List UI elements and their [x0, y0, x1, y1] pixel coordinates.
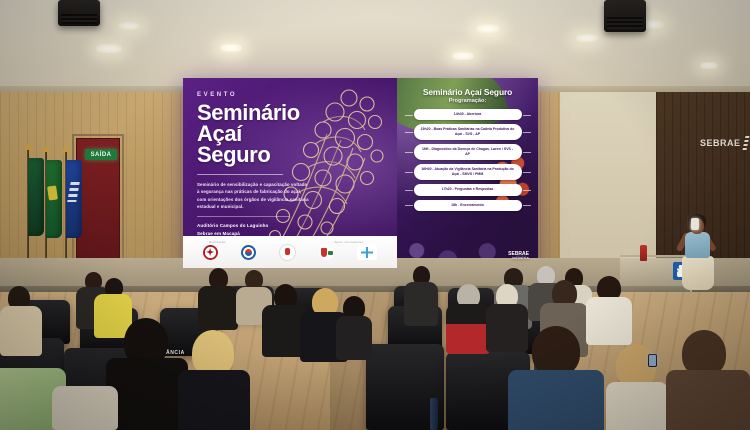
audience-member [508, 326, 604, 430]
divider [197, 174, 283, 175]
ceiling-speaker [58, 0, 100, 26]
partner-logo-1-icon [203, 245, 218, 260]
projection-screen: EVENTO Seminário Açaí Seguro Seminário d… [183, 78, 538, 268]
ceiling-light [118, 22, 140, 30]
flag-cloth [46, 160, 62, 238]
skirt [682, 256, 714, 290]
torso [508, 370, 604, 430]
schedule-item: 14h30 - Abertura [414, 109, 522, 120]
torso [178, 370, 250, 430]
schedule-subtitle: Programação: [404, 98, 531, 104]
person-taking-photo [678, 212, 720, 290]
sebrae-wall-logo: SEBRAE [700, 128, 748, 158]
ceiling-light [576, 34, 598, 42]
sebrae-slide-logo: SEBRAE Indústria [508, 252, 529, 261]
phone-icon [691, 218, 699, 230]
torso [106, 358, 188, 430]
divider [197, 216, 289, 217]
audience-member [0, 286, 42, 352]
torso [446, 304, 490, 354]
sebrae-slide-logo-sub: Indústria [508, 257, 529, 261]
shirt-text: ÂNCIA [166, 350, 185, 356]
schedule-item: 15h20 - Boas Práticas Sanitárias na Cade… [414, 124, 522, 140]
chair-leg [430, 398, 438, 430]
slide-description: Seminário de sensibilização e capacitaçã… [197, 181, 309, 210]
audience-member [106, 318, 188, 430]
schedule-item: 16H - Diagnóstico da Doença de Chagas, L… [414, 144, 522, 160]
sebrae-wall-logo-text: SEBRAE [700, 138, 741, 148]
partner-logo-3-icon [279, 244, 296, 261]
ceiling-speaker [604, 0, 646, 32]
schedule-title: Seminário Açaí Seguro [404, 87, 531, 97]
schedule-block: Seminário Açaí Seguro Programação: 14h30… [397, 78, 538, 211]
partner-logo-4-icon [319, 245, 334, 260]
schedule-item: 16H40 - Atuação da Vigilância Sanitária … [414, 164, 522, 180]
audience-member [666, 330, 750, 430]
audience-member [336, 296, 372, 356]
auditorium-photo-scene: SEBRAE SAÍDA [0, 0, 750, 430]
audience-member [446, 284, 490, 350]
torso [404, 282, 438, 326]
presentation-slide: EVENTO Seminário Açaí Seguro Seminário d… [183, 78, 538, 268]
slide-eyebrow: EVENTO [197, 92, 397, 98]
schedule-item: 18h - Encerramento [414, 200, 522, 211]
fire-extinguisher [640, 245, 647, 261]
slide-title-line-2: Açaí [197, 123, 397, 144]
ceiling-light [476, 24, 500, 33]
ceiling-light [700, 62, 718, 69]
partner-logo-5-icon [357, 245, 377, 260]
slide-left-panel: EVENTO Seminário Açaí Seguro Seminário d… [183, 78, 397, 268]
partners-caption: Realização [209, 241, 226, 244]
flag-cloth [66, 160, 82, 238]
slide-title: Seminário Açaí Seguro [197, 102, 397, 165]
audience-member [178, 330, 250, 430]
audience-member [52, 386, 118, 430]
partner-logo-2-icon [241, 245, 256, 260]
flag-cloth [28, 158, 44, 236]
head [532, 326, 580, 376]
audience-member [606, 344, 668, 430]
slide-title-line-3: Seguro [197, 144, 397, 165]
ceiling-light [220, 44, 242, 52]
torso [198, 286, 238, 330]
partner-logo-strip: Realização Apoio institucional [183, 236, 397, 268]
exit-sign-label: SAÍDA [91, 152, 112, 158]
slide-right-panel: Seminário Açaí Seguro Programação: 14h30… [397, 78, 538, 268]
torso [336, 316, 372, 360]
ceiling-light [452, 52, 474, 60]
audience-member [404, 266, 438, 324]
audience-member [198, 268, 238, 328]
slide-title-line-1: Seminário [197, 102, 397, 123]
exit-sign: SAÍDA [85, 149, 117, 160]
torso [0, 306, 42, 356]
torso [685, 232, 710, 258]
partners-caption-right: Apoio institucional [334, 241, 363, 244]
schedule-item: 17h20 - Perguntas e Respostas [414, 184, 522, 195]
torso [606, 382, 668, 430]
ceiling-light [96, 44, 122, 53]
audience-phone-icon [648, 354, 657, 367]
slide-venue: Auditório Campos do Laguinho [197, 222, 397, 230]
torso [666, 370, 750, 430]
torso [52, 386, 118, 430]
